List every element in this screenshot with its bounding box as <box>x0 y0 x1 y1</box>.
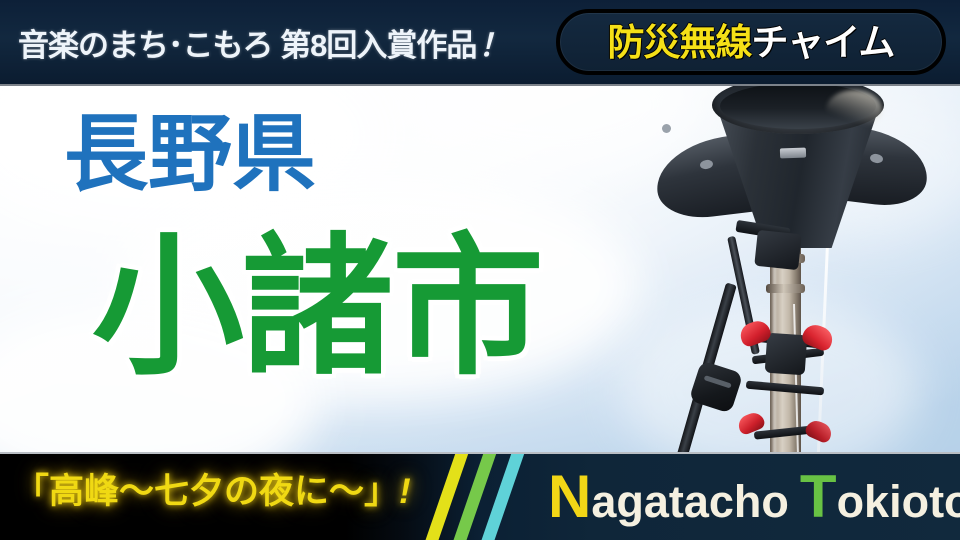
horn-lug <box>662 124 671 133</box>
channel-brand: NagatachoTokiotoPlus <box>548 467 960 527</box>
category-badge: 防災無線チャイム <box>556 9 946 75</box>
brand-word-nagatacho: agatacho <box>591 476 789 527</box>
brand-initial-t: T <box>800 463 837 530</box>
horn-rim-highlight <box>826 90 882 130</box>
header-bar: 音楽のまち･こもろ 第8回入賞作品！ 防災無線チャイム <box>0 0 960 86</box>
award-tagline: 音楽のまち･こもろ 第8回入賞作品！ <box>18 20 508 65</box>
song-title: 「高峰～七夕の夜に～」! <box>14 470 411 514</box>
prefecture-title: 長野県 <box>64 112 316 196</box>
horn-nameplate <box>780 148 806 159</box>
loudspeaker-horn <box>656 82 946 272</box>
badge-label-chime: チャイム <box>752 22 895 63</box>
loudspeaker-rig <box>640 84 960 456</box>
footer-bar: 「高峰～七夕の夜に～」! NagatachoTokiotoPlus <box>0 452 960 540</box>
song-title-exclamation: ! <box>399 472 411 511</box>
red-speaker-pod <box>803 417 834 444</box>
brand-word-tokioto: okioto <box>837 476 960 527</box>
mounting-bracket <box>765 333 808 376</box>
pole-collar <box>766 284 805 293</box>
song-title-text: 「高峰～七夕の夜に～」 <box>14 472 399 511</box>
slash-decoration <box>414 452 544 540</box>
award-tagline-exclamation: ！ <box>476 28 508 63</box>
brand-initial-n: N <box>548 463 591 530</box>
award-tagline-text: 音楽のまち･こもろ 第8回入賞作品 <box>18 28 476 63</box>
category-badge-text: 防災無線チャイム <box>608 24 895 61</box>
badge-label-bosai-musen: 防災無線 <box>608 22 752 63</box>
city-title: 小諸市 <box>92 232 542 384</box>
video-thumbnail: 音楽のまち･こもろ 第8回入賞作品！ 防災無線チャイム 長野県 小諸市 「高峰～… <box>0 0 960 540</box>
horn-throat-driver <box>754 230 802 270</box>
